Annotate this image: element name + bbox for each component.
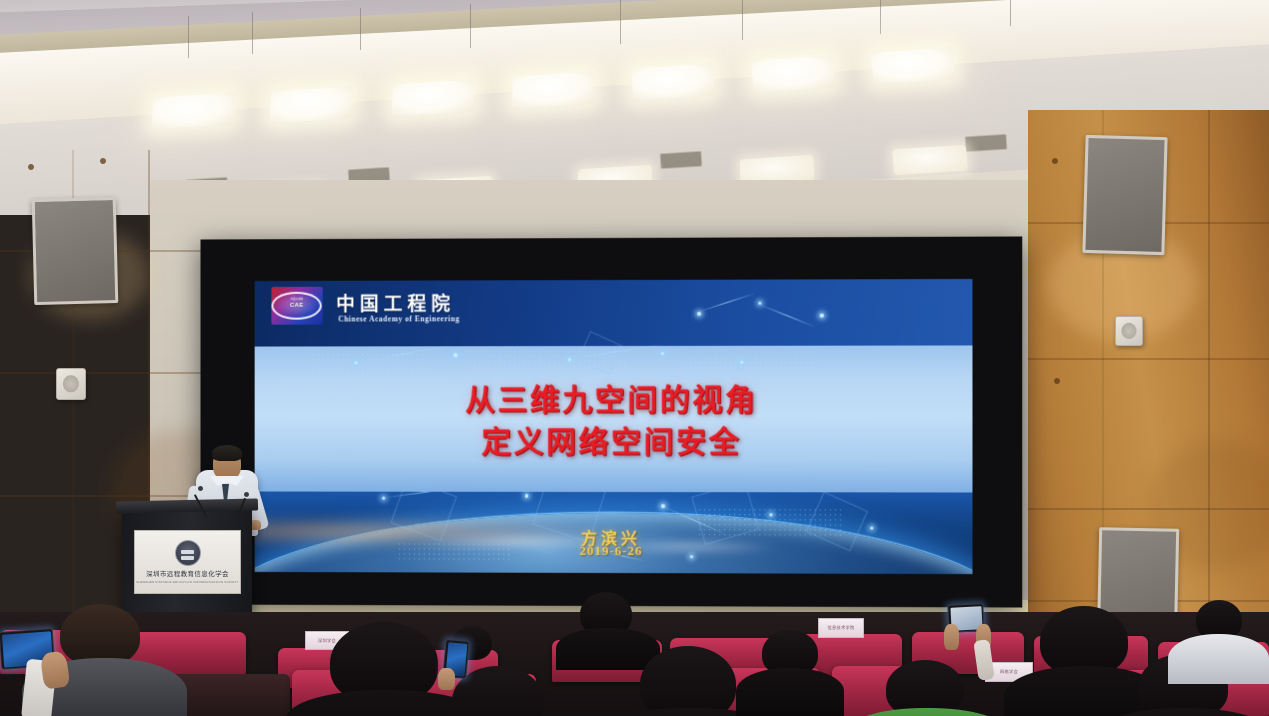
seat-placard: 信息技术学院 xyxy=(818,618,864,638)
podium-top xyxy=(116,499,258,514)
presentation-screen[interactable]: 中国工程院 CAE 中国工程院 Chinese Academy of Engin… xyxy=(255,279,973,574)
slide-globe-area: 方滨兴 2019-6-26 xyxy=(255,492,973,574)
presentation-date: 2019-6-26 xyxy=(255,542,973,560)
placard-text: 网络学会 xyxy=(1000,669,1018,675)
acoustic-panel xyxy=(1082,135,1167,255)
cae-logo-icon: 中国工程院 CAE xyxy=(271,287,323,325)
audience-hand xyxy=(944,624,959,650)
microphone-head-icon xyxy=(198,486,203,491)
ceiling-hanger xyxy=(620,0,621,44)
audience-head xyxy=(60,604,140,666)
audience-shoulders xyxy=(1168,634,1269,684)
slide-title-area: 从三维九空间的视角 定义网络空间安全 xyxy=(255,345,973,493)
placard-text: 信息技术学院 xyxy=(828,625,855,631)
ceiling-hanger xyxy=(742,0,743,40)
audience-area: 深圳学会 信息技术学院 网络学会 xyxy=(0,612,1269,716)
wall-speaker-icon xyxy=(1115,316,1143,346)
audience-shoulders xyxy=(736,668,844,716)
ceiling-vent xyxy=(965,134,1008,153)
audience-shoulders xyxy=(556,628,660,670)
podium-plaque: 深圳市远程教育信息化学会 SHENZHEN DISTANCE EDUCATION… xyxy=(134,530,241,594)
logo-mini-label: 中国工程院 xyxy=(290,296,303,300)
ceiling-hanger xyxy=(470,4,471,48)
ceiling-hanger xyxy=(1010,0,1011,26)
logo-label: CAE xyxy=(290,303,304,309)
title-line-1: 从三维九空间的视角 xyxy=(255,379,973,422)
led-screen-bezel: 中国工程院 CAE 中国工程院 Chinese Academy of Engin… xyxy=(201,236,1023,607)
organization-name-cn: 中国工程院 xyxy=(336,289,455,316)
audience-hand xyxy=(438,668,455,690)
title-line-2: 定义网络空间安全 xyxy=(255,422,973,465)
ceiling-hanger xyxy=(880,0,881,34)
slide-header-band: 中国工程院 CAE 中国工程院 Chinese Academy of Engin… xyxy=(255,279,973,346)
speaker-hair xyxy=(212,445,242,461)
organization-name-en: Chinese Academy of Engineering xyxy=(338,315,459,324)
wall-speaker-icon xyxy=(56,368,86,400)
ceiling-light xyxy=(151,92,235,129)
ceiling-vent xyxy=(660,151,703,170)
ceiling-hanger xyxy=(360,8,361,50)
microphone-head-icon xyxy=(244,492,249,497)
ceiling-light xyxy=(871,47,956,84)
ceiling-light xyxy=(512,71,594,108)
placard-text: 深圳学会 xyxy=(318,638,336,644)
audience-head xyxy=(640,646,736,716)
ceiling-light xyxy=(751,55,835,92)
ceiling-hanger xyxy=(252,12,253,54)
podium-org-en: SHENZHEN DISTANCE EDUCATION INFORMATIZAT… xyxy=(136,580,239,584)
slide-content: 中国工程院 CAE 中国工程院 Chinese Academy of Engin… xyxy=(255,279,973,574)
ceiling-hanger xyxy=(188,16,189,58)
slide-title: 从三维九空间的视角 定义网络空间安全 xyxy=(255,379,973,465)
ceiling-light xyxy=(392,79,475,116)
acoustic-panel xyxy=(32,197,119,305)
podium-org-cn: 深圳市远程教育信息化学会 xyxy=(146,568,229,578)
ceiling-light xyxy=(269,86,352,123)
ceiling-light xyxy=(892,145,968,176)
ceiling-light xyxy=(632,63,715,100)
auditorium-photo: 中国工程院 CAE 中国工程院 Chinese Academy of Engin… xyxy=(0,0,1269,716)
society-emblem-icon xyxy=(175,540,201,566)
